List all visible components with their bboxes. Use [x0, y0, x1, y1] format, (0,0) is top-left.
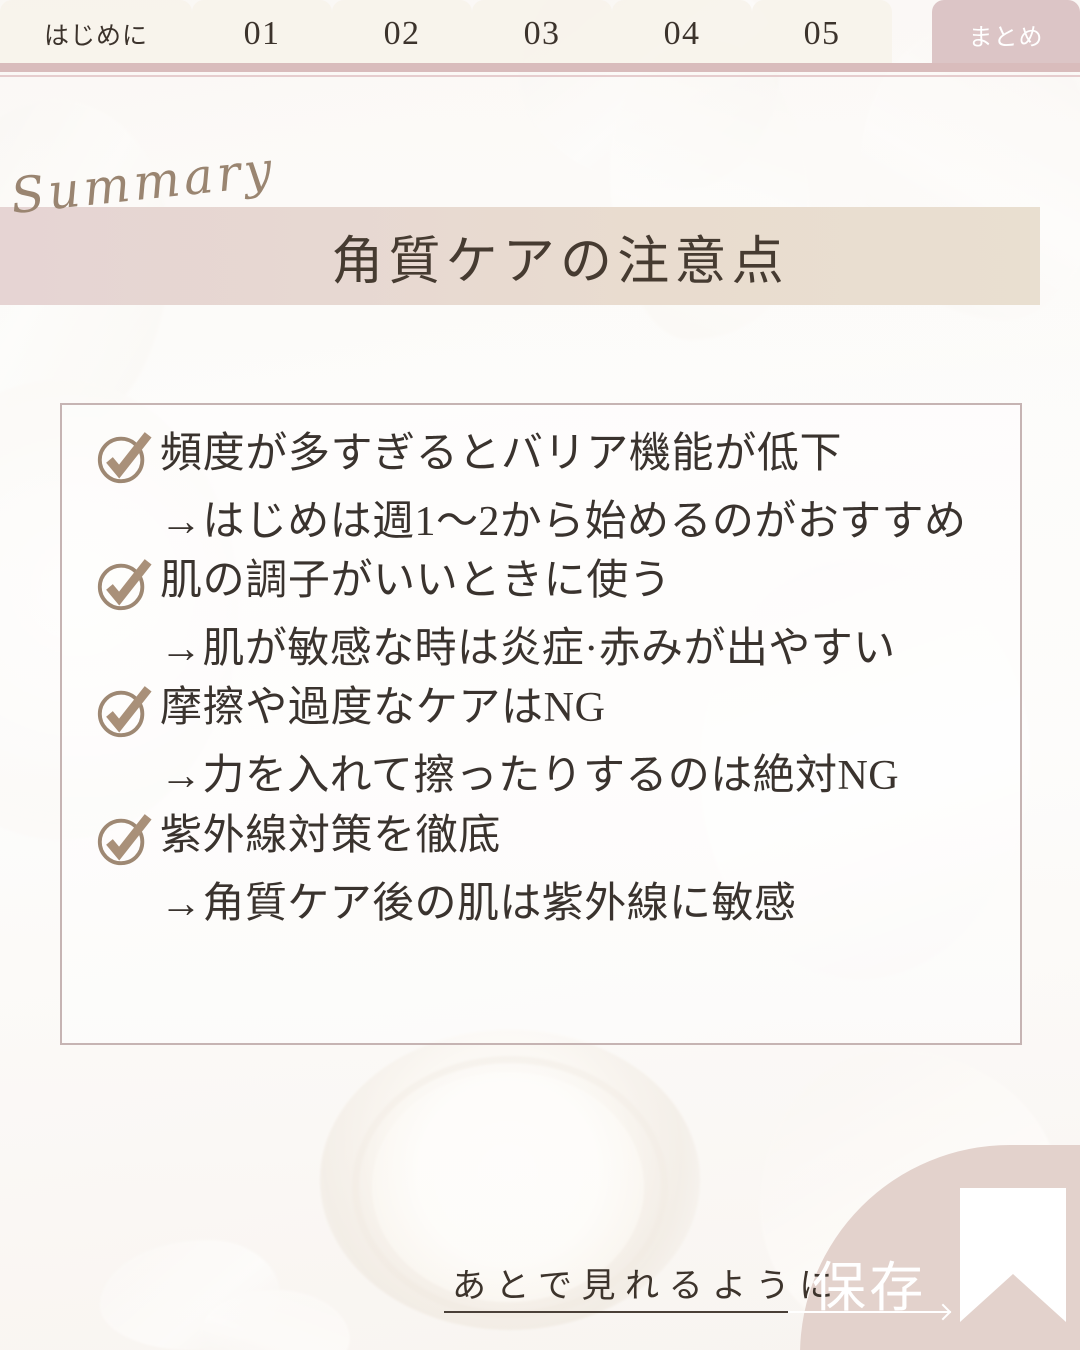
- check-circle-icon: [94, 556, 152, 614]
- tab-04[interactable]: 04: [612, 0, 752, 68]
- list-item-detail: →はじめは週1〜2から始めるのがおすすめ: [160, 497, 1020, 548]
- save-underline-dark: [444, 1311, 788, 1313]
- header-divider-thin: [0, 75, 1080, 77]
- list-item: 摩擦や過度なケアはNG →力を入れて擦ったりするのは絶対NG: [62, 681, 1020, 802]
- check-circle-icon: [94, 429, 152, 487]
- list-item: 紫外線対策を徹底 →角質ケア後の肌は紫外線に敏感: [62, 809, 1020, 930]
- page-title: 角質ケアの注意点: [0, 207, 1080, 305]
- bookmark-ribbon-icon[interactable]: [960, 1188, 1066, 1322]
- save-button-label[interactable]: 保存: [812, 1243, 926, 1322]
- list-item-title: 頻度が多すぎるとバリア機能が低下: [160, 427, 842, 480]
- check-circle-icon: [94, 683, 152, 741]
- list-item-title: 紫外線対策を徹底: [160, 809, 501, 862]
- list-item-detail: →角質ケア後の肌は紫外線に敏感: [160, 879, 1020, 930]
- checklist: 頻度が多すぎるとバリア機能が低下 →はじめは週1〜2から始めるのがおすすめ 肌の…: [62, 427, 1020, 936]
- list-item-head: 肌の調子がいいときに使う: [94, 554, 1020, 614]
- infographic-page: はじめに 01 02 03 04 05 まとめ Summary 角質ケアの注意点: [0, 0, 1080, 1350]
- tab-01[interactable]: 01: [192, 0, 332, 68]
- header-divider-thick: [0, 63, 1080, 72]
- list-item-head: 頻度が多すぎるとバリア機能が低下: [94, 427, 1020, 487]
- check-circle-icon: [94, 811, 152, 869]
- list-item-title: 摩擦や過度なケアはNG: [160, 681, 606, 734]
- arrow-right-icon: [932, 1301, 952, 1323]
- list-item-title: 肌の調子がいいときに使う: [160, 554, 672, 607]
- list-item-detail: →力を入れて擦ったりするのは絶対NG: [160, 751, 1020, 802]
- tab-03[interactable]: 03: [472, 0, 612, 68]
- tab-intro[interactable]: はじめに: [0, 0, 192, 68]
- content-card: 頻度が多すぎるとバリア機能が低下 →はじめは週1〜2から始めるのがおすすめ 肌の…: [60, 403, 1022, 1045]
- list-item-head: 摩擦や過度なケアはNG: [94, 681, 1020, 741]
- list-item-detail: →肌が敏感な時は炎症·赤みが出やすい: [160, 624, 1020, 675]
- save-hint-text: あとで見れるように: [452, 1258, 843, 1307]
- list-item: 肌の調子がいいときに使う →肌が敏感な時は炎症·赤みが出やすい: [62, 554, 1020, 675]
- list-item-head: 紫外線対策を徹底: [94, 809, 1020, 869]
- tab-05[interactable]: 05: [752, 0, 892, 68]
- tab-summary[interactable]: まとめ: [932, 0, 1080, 68]
- section-tab-bar: はじめに 01 02 03 04 05 まとめ: [0, 0, 1080, 68]
- tab-02[interactable]: 02: [332, 0, 472, 68]
- list-item: 頻度が多すぎるとバリア機能が低下 →はじめは週1〜2から始めるのがおすすめ: [62, 427, 1020, 548]
